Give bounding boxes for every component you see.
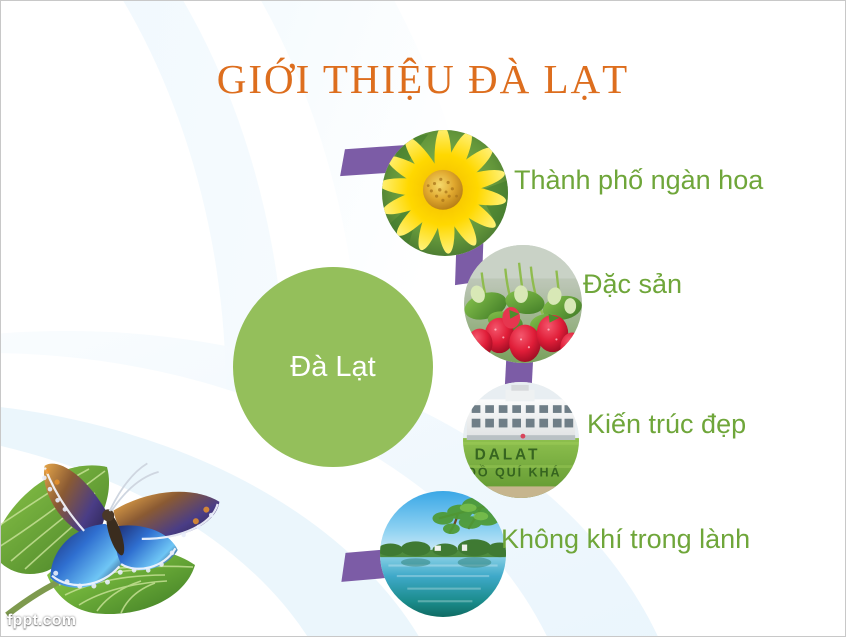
center-node-da-lat: Đà Lạt (233, 267, 433, 467)
svg-text:DALAT: DALAT (475, 446, 541, 463)
strawberry-plants-photo (464, 245, 582, 363)
branch-label-4: Không khí trong lành (501, 524, 750, 555)
branch-label-3: Kiến trúc đẹp (587, 409, 746, 440)
center-node-label: Đà Lạt (290, 351, 375, 384)
dalat-building-photo: DALAT ĐỒ QUÍ KHÁ (463, 382, 579, 498)
yellow-daisy-flower-photo (382, 130, 508, 256)
branch-label-2: Đặc sản (583, 269, 682, 300)
butterfly-on-leaf-decoration (0, 399, 245, 637)
slide-title: GIỚI THIỆU ĐÀ LẠT (1, 55, 845, 103)
presentation-slide: GIỚI THIỆU ĐÀ LẠT Đà Lạt (0, 0, 846, 637)
branch-label-1: Thành phố ngàn hoa (514, 165, 763, 196)
watermark-fppt: fppt.com (7, 612, 76, 630)
lake-landscape-photo (380, 491, 506, 617)
